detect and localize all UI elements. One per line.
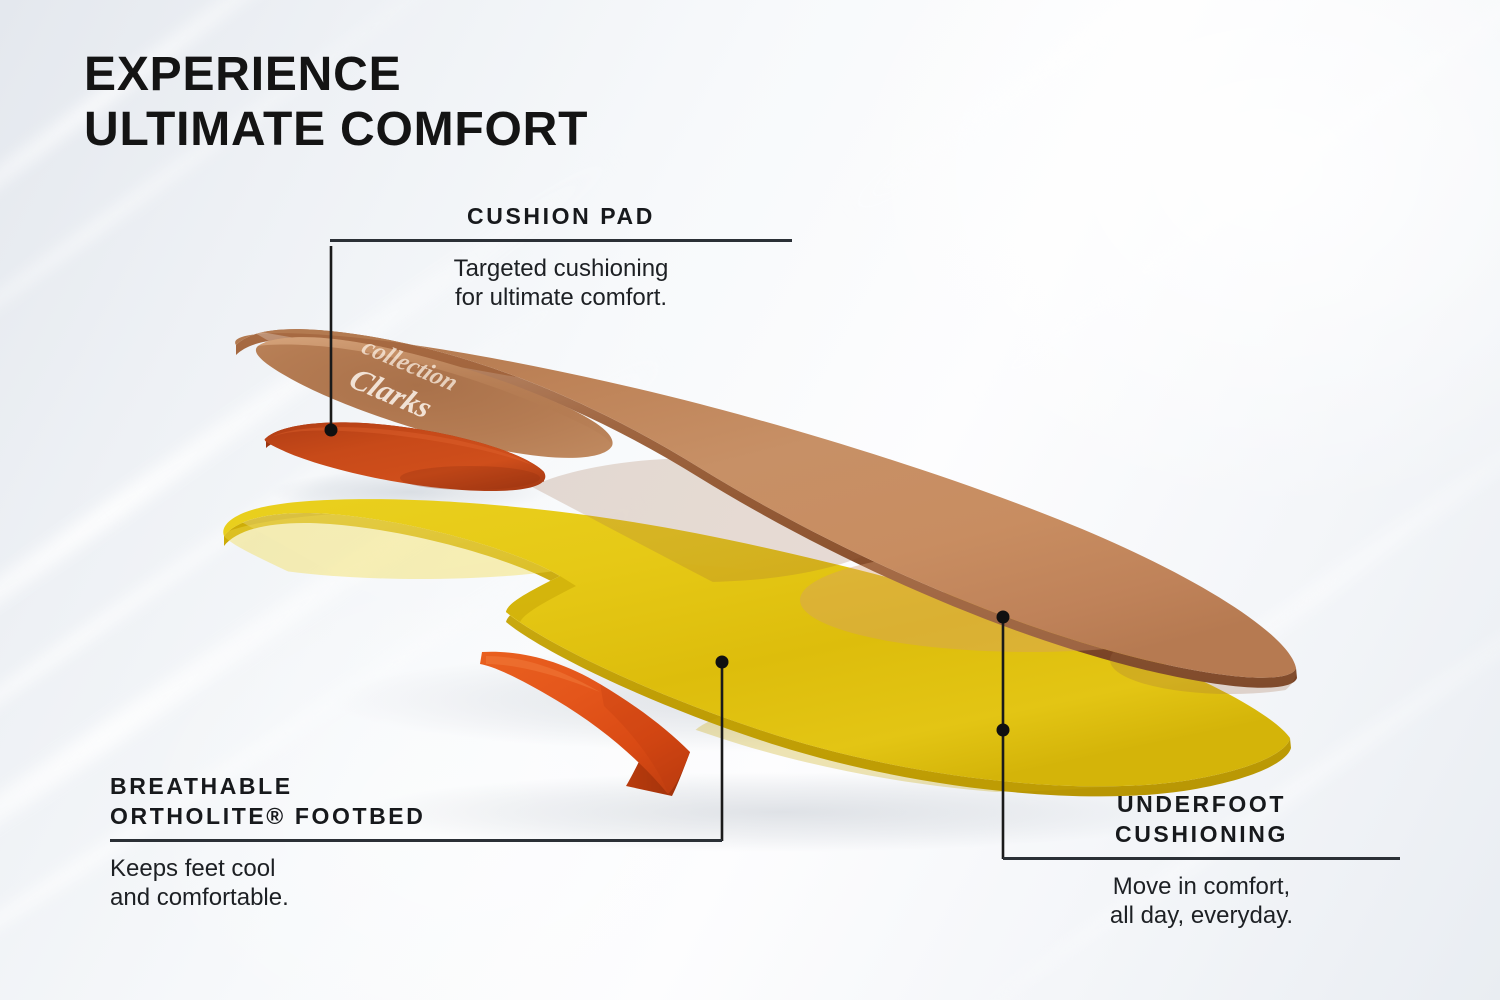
page-title-line-2: ULTIMATE COMFORT xyxy=(84,103,588,158)
page-title-line-1: EXPERIENCE xyxy=(84,48,401,101)
callout-underfoot-cushioning: UNDERFOOT CUSHIONING Move in comfort, al… xyxy=(1003,790,1400,930)
page-title: EXPERIENCE ULTIMATE COMFORT xyxy=(84,48,588,157)
callout-cushion-pad-title: CUSHION PAD xyxy=(330,202,792,232)
callout-breathable-ortholite-footbed: BREATHABLE ORTHOLITE® FOOTBED Keeps feet… xyxy=(110,772,722,912)
callout-cushion-pad: CUSHION PAD Targeted cushioning for ulti… xyxy=(330,202,792,312)
callout-cushion-pad-description: Targeted cushioning for ultimate comfort… xyxy=(330,255,792,313)
callout-breathable-rule xyxy=(110,839,722,842)
cushion-pad-shade xyxy=(400,466,540,490)
infographic-canvas: collection Clarks EXPERIENCE ULTIMATE CO… xyxy=(0,0,1500,1000)
callout-cushion-pad-rule xyxy=(330,239,792,242)
callout-breathable-description: Keeps feet cool and comfortable. xyxy=(110,855,722,913)
callout-breathable-title: BREATHABLE ORTHOLITE® FOOTBED xyxy=(110,772,722,832)
callout-underfoot-title: UNDERFOOT CUSHIONING xyxy=(1003,790,1400,850)
callout-underfoot-description: Move in comfort, all day, everyday. xyxy=(1003,873,1400,931)
callout-underfoot-rule xyxy=(1003,857,1400,860)
